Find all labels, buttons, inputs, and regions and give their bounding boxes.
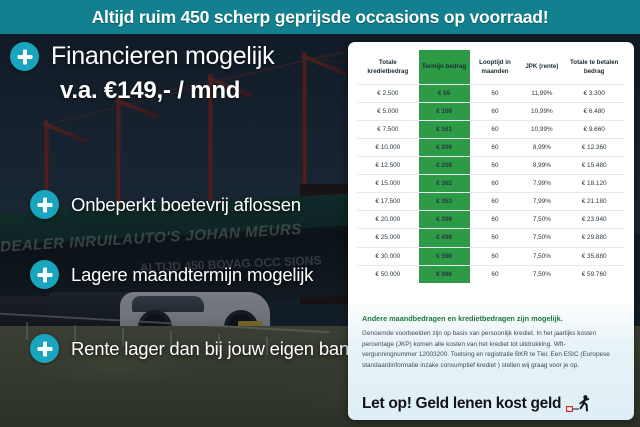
table-cell: 7,50% <box>520 247 563 265</box>
table-cell: 60 <box>470 157 521 175</box>
rate-table-body: € 2.500€ 556011,99%€ 3.300€ 5.000€ 10860… <box>357 85 625 283</box>
feature-bullet-2-label: Lagere maandtermijn mogelijk <box>71 264 313 286</box>
table-cell: € 20.000 <box>357 211 419 229</box>
rate-table-header-row: Totale kredietbedrag Termijn bedrag Loop… <box>357 51 625 85</box>
plus-icon <box>30 260 59 289</box>
table-cell: 60 <box>470 229 521 247</box>
table-cell: € 7.500 <box>357 121 419 139</box>
table-cell: 60 <box>470 247 521 265</box>
table-header-cell: Totale kredietbedrag <box>357 51 419 85</box>
note-title: Andere maandbedragen en kredietbedragen … <box>362 314 620 323</box>
table-cell: € 18.120 <box>563 175 625 193</box>
table-cell: € 21.180 <box>563 193 625 211</box>
table-cell: 60 <box>470 139 521 157</box>
rate-table-wrapper: Totale kredietbedrag Termijn bedrag Loop… <box>348 42 634 283</box>
table-cell: 60 <box>470 103 521 121</box>
table-cell: 60 <box>470 175 521 193</box>
table-cell: 10,99% <box>520 103 563 121</box>
table-cell-termijn-bedrag: € 161 <box>419 121 470 139</box>
plus-icon <box>10 42 39 71</box>
table-cell: € 29.880 <box>563 229 625 247</box>
left-content-column: Financieren mogelijk v.a. €149,- / mnd O… <box>0 34 348 427</box>
table-cell: 60 <box>470 193 521 211</box>
table-row: € 12.500€ 258608,99%€ 15.480 <box>357 157 625 175</box>
table-cell: € 25.000 <box>357 229 419 247</box>
table-row: € 15.000€ 302607,99%€ 18.120 <box>357 175 625 193</box>
table-cell-termijn-bedrag: € 996 <box>419 265 470 283</box>
rate-table-head: Totale kredietbedrag Termijn bedrag Loop… <box>357 51 625 85</box>
note-block: Andere maandbedragen en kredietbedragen … <box>348 314 634 371</box>
table-cell: € 2.500 <box>357 85 419 103</box>
table-cell-termijn-bedrag: € 353 <box>419 193 470 211</box>
table-cell-termijn-bedrag: € 108 <box>419 103 470 121</box>
table-cell: 10,99% <box>520 121 563 139</box>
table-cell: € 15.480 <box>563 157 625 175</box>
headline-block: Financieren mogelijk v.a. €149,- / mnd <box>0 42 348 105</box>
table-cell: 7,50% <box>520 229 563 247</box>
table-row: € 25.000€ 498607,50%€ 29.880 <box>357 229 625 247</box>
table-header-cell: Looptijd in maanden <box>470 51 521 85</box>
table-cell: 7,99% <box>520 175 563 193</box>
table-cell-termijn-bedrag: € 258 <box>419 157 470 175</box>
feature-bullet-3: Rente lager dan bij jouw eigen bank <box>30 334 358 363</box>
table-cell: € 6.480 <box>563 103 625 121</box>
table-cell: 60 <box>470 121 521 139</box>
table-header-cell: Totale te betalen bedrag <box>563 51 625 85</box>
table-header-cell: Termijn bedrag <box>419 51 470 85</box>
table-row: € 17.500€ 353607,99%€ 21.180 <box>357 193 625 211</box>
rate-table: Totale kredietbedrag Termijn bedrag Loop… <box>357 50 625 283</box>
table-cell: € 5.000 <box>357 103 419 121</box>
table-cell: € 12.360 <box>563 139 625 157</box>
warning-row: Let op! Geld lenen kost geld <box>348 394 634 414</box>
plus-icon <box>30 190 59 219</box>
table-row: € 5.000€ 1086010,99%€ 6.480 <box>357 103 625 121</box>
headline-row: Financieren mogelijk <box>0 42 348 71</box>
table-cell: 60 <box>470 265 521 283</box>
feature-bullet-1: Onbeperkt boetevrij aflossen <box>30 190 301 219</box>
warning-text: Let op! Geld lenen kost geld <box>362 395 561 413</box>
table-cell: 8,99% <box>520 157 563 175</box>
table-header-cell: JPK (rente) <box>520 51 563 85</box>
table-cell: € 23.940 <box>563 211 625 229</box>
feature-bullet-3-label: Rente lager dan bij jouw eigen bank <box>71 338 358 360</box>
table-cell: 8,99% <box>520 139 563 157</box>
table-cell: 60 <box>470 85 521 103</box>
table-cell-termijn-bedrag: € 498 <box>419 229 470 247</box>
table-cell: € 59.760 <box>563 265 625 283</box>
table-row: € 30.000€ 598607,50%€ 35.880 <box>357 247 625 265</box>
table-cell: 7,50% <box>520 211 563 229</box>
table-cell-termijn-bedrag: € 302 <box>419 175 470 193</box>
table-cell: € 10.000 <box>357 139 419 157</box>
table-row: € 10.000€ 206608,99%€ 12.360 <box>357 139 625 157</box>
table-cell: € 12.500 <box>357 157 419 175</box>
table-cell: 7,99% <box>520 193 563 211</box>
headline-line-1: Financieren mogelijk <box>51 42 274 71</box>
table-cell: € 35.880 <box>563 247 625 265</box>
headline-line-2: v.a. €149,- / mnd <box>0 77 348 105</box>
promo-banner-image: DEALER INRUILAUTO'S JOHAN MEURS ALTIJD 4… <box>0 0 640 427</box>
table-row: € 50.000€ 996607,50%€ 59.760 <box>357 265 625 283</box>
plus-icon <box>30 334 59 363</box>
feature-bullet-1-label: Onbeperkt boetevrij aflossen <box>71 194 301 216</box>
table-cell: 60 <box>470 211 521 229</box>
table-cell: € 9.660 <box>563 121 625 139</box>
note-body: Genoemde voorbeelden zijn op basis van p… <box>362 329 620 371</box>
table-cell: € 17.500 <box>357 193 419 211</box>
table-cell: € 30.000 <box>357 247 419 265</box>
table-cell-termijn-bedrag: € 598 <box>419 247 470 265</box>
top-banner: Altijd ruim 450 scherp geprijsde occasio… <box>0 0 640 34</box>
table-cell: € 15.000 <box>357 175 419 193</box>
table-cell: 7,50% <box>520 265 563 283</box>
running-person-with-debt-icon <box>566 394 592 414</box>
table-row: € 2.500€ 556011,99%€ 3.300 <box>357 85 625 103</box>
table-row: € 7.500€ 1616010,99%€ 9.660 <box>357 121 625 139</box>
table-row: € 20.000€ 399607,50%€ 23.940 <box>357 211 625 229</box>
finance-rate-card: Totale kredietbedrag Termijn bedrag Loop… <box>348 42 634 420</box>
table-cell: € 3.300 <box>563 85 625 103</box>
feature-bullet-2: Lagere maandtermijn mogelijk <box>30 260 313 289</box>
table-cell: € 50.000 <box>357 265 419 283</box>
table-cell-termijn-bedrag: € 399 <box>419 211 470 229</box>
table-cell-termijn-bedrag: € 55 <box>419 85 470 103</box>
table-cell: 11,99% <box>520 85 563 103</box>
table-cell-termijn-bedrag: € 206 <box>419 139 470 157</box>
top-banner-text: Altijd ruim 450 scherp geprijsde occasio… <box>92 7 549 28</box>
